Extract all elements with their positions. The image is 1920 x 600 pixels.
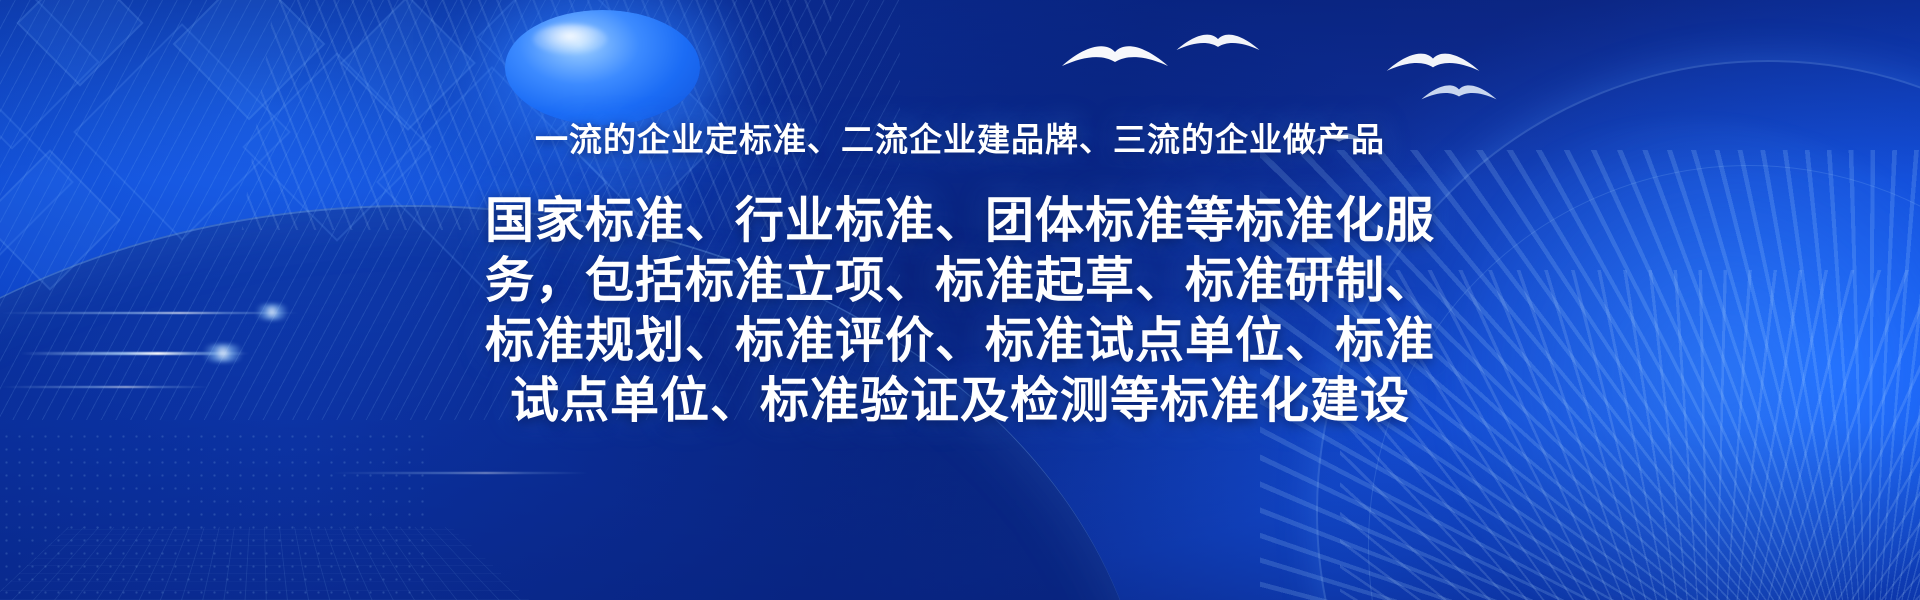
light-streak-5 (330, 472, 590, 474)
bird-icon-1 (1060, 36, 1170, 78)
dot-mesh (0, 430, 430, 600)
bird-icon-3 (1385, 44, 1481, 82)
bird-icon-2 (1175, 26, 1261, 60)
promo-banner: 一流的企业定标准、二流企业建品牌、三流的企业做产品 国家标准、行业标准、团体标准… (0, 0, 1920, 600)
radial-fan-lines-secondary (1340, 270, 1920, 600)
light-streak-1-glow (196, 344, 250, 362)
light-streak-2-glow (250, 304, 294, 320)
bird-icon-4 (1420, 78, 1498, 108)
light-streak-3 (0, 386, 210, 388)
glow-orb-highlight (533, 24, 607, 54)
glow-orb (505, 10, 700, 125)
bird-icon-5 (1310, 128, 1368, 150)
